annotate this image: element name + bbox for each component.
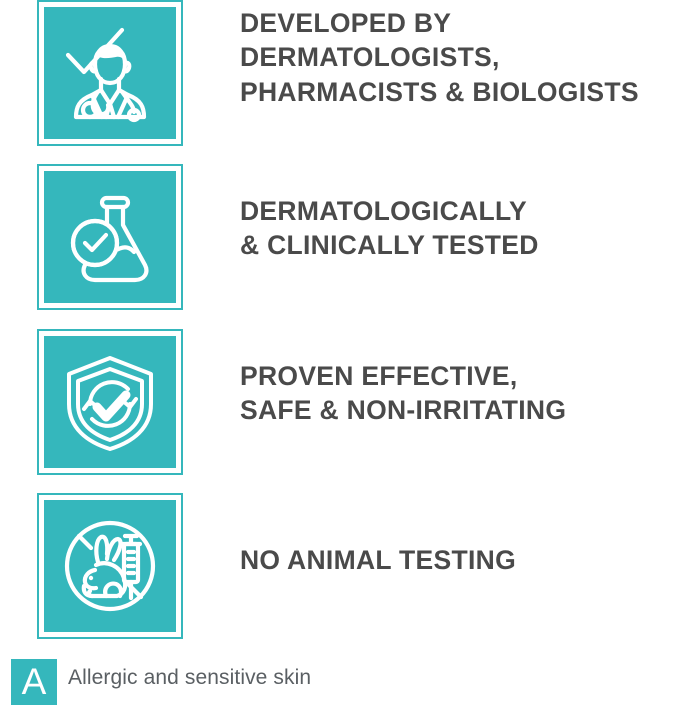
feature-label: NO ANIMAL TESTING <box>240 543 679 577</box>
feature-icon-frame <box>37 0 183 146</box>
feature-row: NO ANIMAL TESTING <box>0 493 679 641</box>
feature-label: DERMATOLOGICALLY & CLINICALLY TESTED <box>240 194 679 263</box>
flask-checkmark-icon <box>44 171 176 303</box>
allergy-badge-letter: A <box>22 663 47 700</box>
feature-icon-frame <box>37 329 183 475</box>
no-animal-testing-icon <box>44 500 176 632</box>
feature-row: PROVEN EFFECTIVE, SAFE & NON-IRRITATING <box>0 329 679 477</box>
shield-checkmark-icon <box>44 336 176 468</box>
feature-icon-frame <box>37 164 183 310</box>
feature-row: DEVELOPED BY DERMATOLOGISTS, PHARMACISTS… <box>0 0 679 148</box>
feature-row: DERMATOLOGICALLY & CLINICALLY TESTED <box>0 164 679 312</box>
allergy-badge-square: A <box>11 659 57 705</box>
footer-caption: Allergic and sensitive skin <box>68 666 311 690</box>
footer-badge-row: A Allergic and sensitive skin <box>0 657 679 711</box>
feature-icon-frame <box>37 493 183 639</box>
feature-label: PROVEN EFFECTIVE, SAFE & NON-IRRITATING <box>240 359 679 428</box>
doctor-checkmark-icon <box>44 7 176 139</box>
feature-label: DEVELOPED BY DERMATOLOGISTS, PHARMACISTS… <box>240 6 679 109</box>
